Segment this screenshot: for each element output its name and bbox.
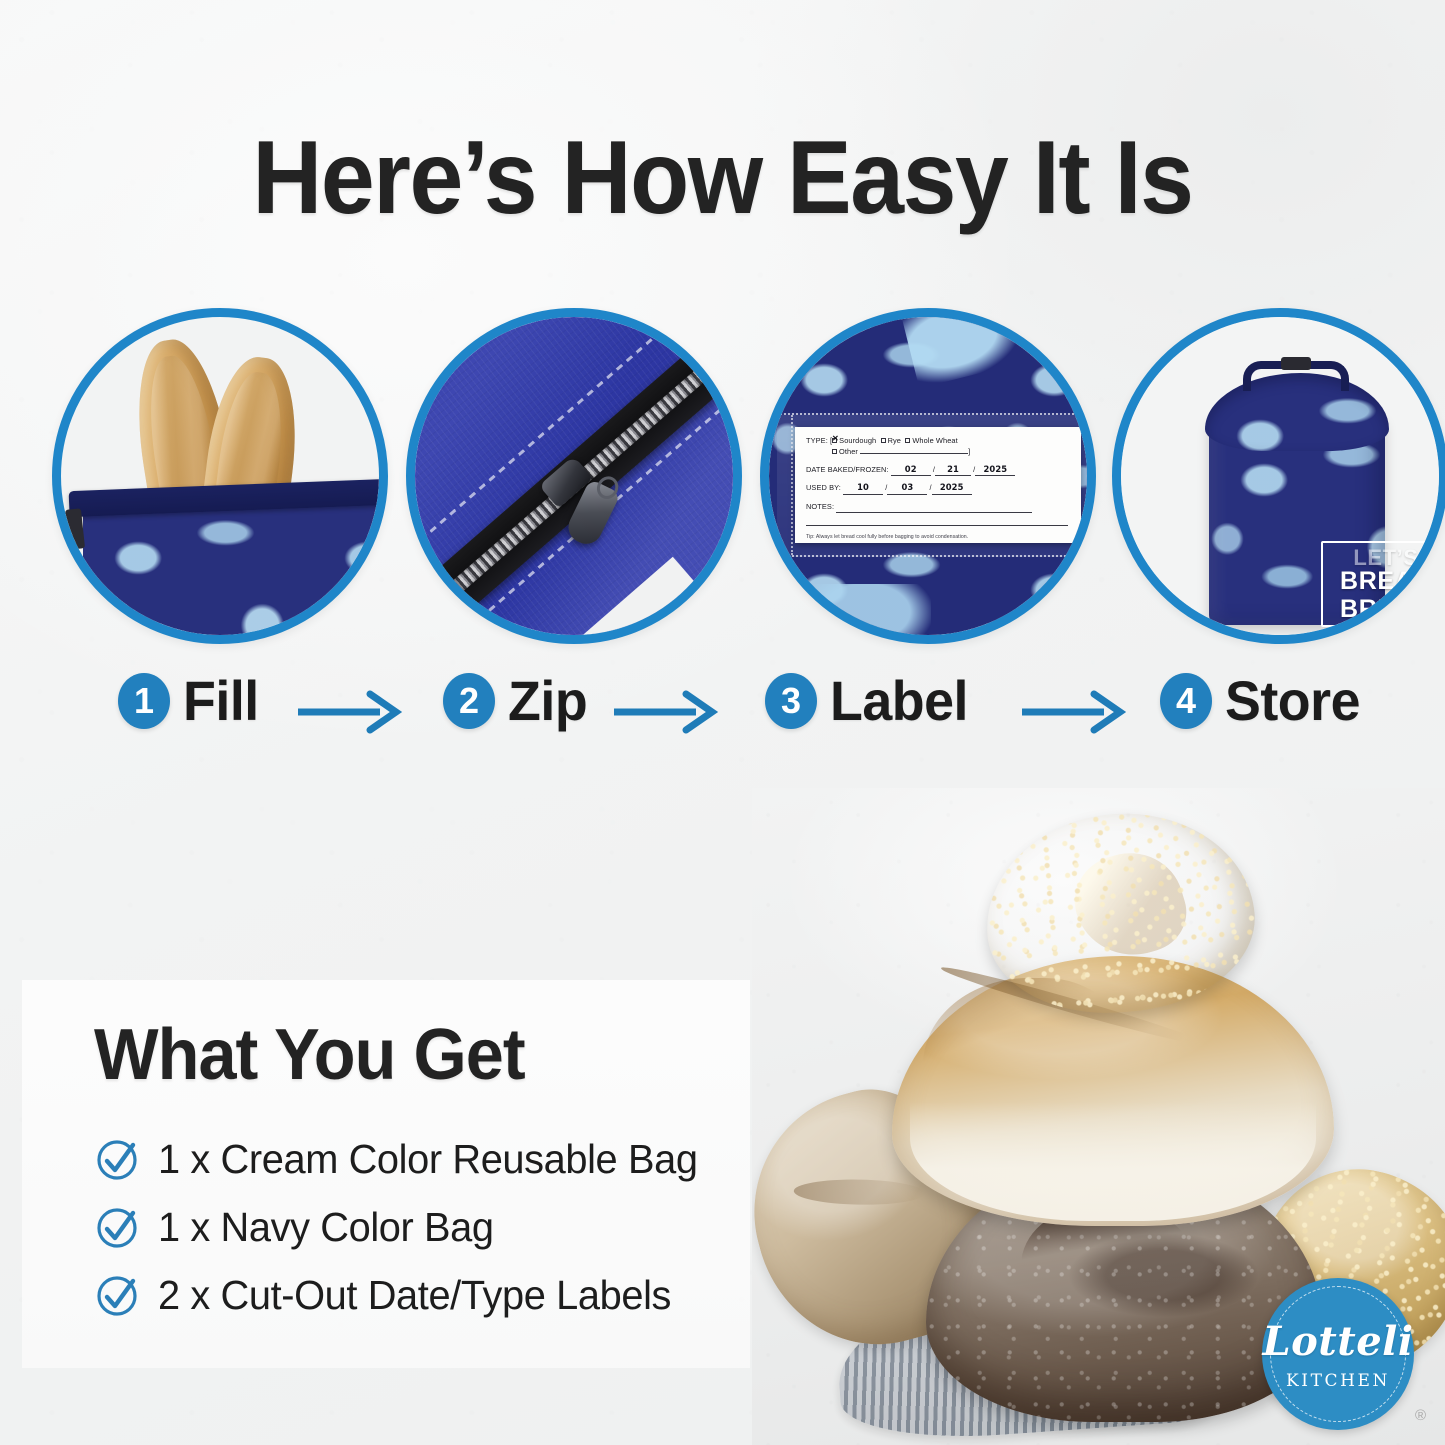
list-item-label: 1 x Navy Color Bag bbox=[158, 1204, 494, 1251]
label-notes-row-2 bbox=[806, 519, 1070, 529]
bag-print-line-2: BREAK bbox=[1340, 568, 1432, 594]
date-baked-month-field[interactable]: 02 bbox=[891, 464, 931, 476]
step-photo-store: LET’S BREAK BREAD bbox=[1112, 308, 1445, 644]
step-photo-fill bbox=[52, 308, 388, 644]
step-caption-store: 4 Store bbox=[1160, 668, 1366, 733]
step-caption-label: 3 Label bbox=[765, 668, 974, 733]
bag-handle-buckle bbox=[1281, 357, 1311, 370]
label-option-other: Other bbox=[839, 447, 858, 456]
step-number-badge-1: 1 bbox=[118, 673, 170, 729]
step-caption-fill: 1 Fill bbox=[118, 668, 262, 733]
used-by-month-value: 10 bbox=[843, 482, 883, 493]
checkbox-other[interactable] bbox=[832, 449, 837, 454]
page-title: Here’s How Easy It Is bbox=[51, 126, 1395, 230]
arrow-right-icon bbox=[296, 690, 404, 734]
what-you-get-panel: What You Get 1 x Cream Color Reusable Ba… bbox=[22, 980, 750, 1368]
sourdough-floured-crust bbox=[910, 1102, 1317, 1221]
open-bread-bag bbox=[83, 495, 379, 635]
step-number-badge-4: 4 bbox=[1160, 673, 1212, 729]
arrow-right-icon bbox=[612, 690, 720, 734]
step-number-badge-3: 3 bbox=[765, 673, 817, 729]
checkbox-sourdough[interactable] bbox=[832, 438, 837, 443]
step-number-badge-2: 2 bbox=[443, 673, 495, 729]
used-by-year-field[interactable]: 2025 bbox=[932, 482, 972, 494]
step-photo-zip bbox=[406, 308, 742, 644]
used-by-day-field[interactable]: 03 bbox=[887, 482, 927, 494]
label-other-row: Other ] bbox=[806, 447, 1070, 457]
notes-field-line-2[interactable] bbox=[806, 525, 1068, 526]
registered-trademark-mark: ® bbox=[1415, 1407, 1426, 1424]
label-type-caption: TYPE: bbox=[806, 436, 828, 445]
logo-inner-ring bbox=[1270, 1286, 1406, 1422]
step-photo-label: TYPE: [Sourdough Rye Whole Wheat Other ]… bbox=[760, 308, 1096, 644]
checkbox-rye[interactable] bbox=[881, 438, 886, 443]
label-date-baked-row: DATE BAKED/FROZEN: 02 /21 /2025 bbox=[806, 464, 1070, 476]
label-tip-text: Tip: Always let bread cool fully before … bbox=[806, 534, 1070, 540]
list-item-label: 1 x Cream Color Reusable Bag bbox=[158, 1136, 698, 1183]
label-option-rye: Rye bbox=[888, 436, 901, 445]
list-item-label: 2 x Cut-Out Date/Type Labels bbox=[158, 1272, 671, 1319]
brand-logo: Lotteli Kitchen ® bbox=[1262, 1278, 1414, 1430]
date-baked-day-field[interactable]: 21 bbox=[935, 464, 971, 476]
notes-field-line-1[interactable] bbox=[836, 502, 1032, 513]
bread-label-card: TYPE: [Sourdough Rye Whole Wheat Other ]… bbox=[795, 427, 1081, 543]
product-photo-backdrop: LET’S BREAK BREAD bbox=[1121, 317, 1439, 635]
used-by-year-value: 2025 bbox=[932, 482, 972, 493]
list-item: 2 x Cut-Out Date/Type Labels bbox=[94, 1272, 750, 1319]
used-by-caption: USED BY: bbox=[806, 483, 841, 492]
list-item: 1 x Navy Color Bag bbox=[94, 1204, 750, 1251]
what-you-get-title: What You Get bbox=[94, 1014, 717, 1096]
bag-print-line-1: LET’S bbox=[1353, 546, 1418, 569]
step-label-label: Label bbox=[830, 668, 968, 733]
checkbox-whole-wheat[interactable] bbox=[905, 438, 910, 443]
bag-print-frame: LET’S BREAK BREAD bbox=[1321, 541, 1439, 627]
used-by-day-value: 03 bbox=[887, 482, 927, 493]
check-circle-icon bbox=[94, 1205, 140, 1251]
step-label-fill: Fill bbox=[183, 668, 259, 733]
steps-caption-row: 1 Fill 2 Zip 3 Label 4 Store bbox=[0, 668, 1445, 762]
date-baked-month-value: 02 bbox=[891, 464, 931, 475]
label-type-bracket-close: ] bbox=[968, 447, 970, 456]
check-circle-icon bbox=[94, 1273, 140, 1319]
step-label-zip: Zip bbox=[508, 668, 587, 733]
arrow-right-icon bbox=[1020, 690, 1128, 734]
date-baked-day-value: 21 bbox=[935, 464, 971, 475]
date-baked-caption: DATE BAKED/FROZEN: bbox=[806, 465, 889, 474]
date-baked-year-value: 2025 bbox=[975, 464, 1015, 475]
label-option-whole-wheat: Whole Wheat bbox=[912, 436, 957, 445]
other-write-in-line[interactable] bbox=[860, 453, 968, 454]
notes-caption: NOTES: bbox=[806, 502, 834, 511]
check-circle-icon bbox=[94, 1137, 140, 1183]
label-used-by-row: USED BY: 10 /03 /2025 bbox=[806, 482, 1070, 494]
used-by-month-field[interactable]: 10 bbox=[843, 482, 883, 494]
step-label-store: Store bbox=[1225, 668, 1360, 733]
date-baked-year-field[interactable]: 2025 bbox=[975, 464, 1015, 476]
label-type-row: TYPE: [Sourdough Rye Whole Wheat bbox=[806, 436, 1070, 446]
step-caption-zip: 2 Zip bbox=[443, 668, 590, 733]
list-item: 1 x Cream Color Reusable Bag bbox=[94, 1136, 750, 1183]
label-option-sourdough: Sourdough bbox=[839, 436, 876, 445]
steps-photo-strip: TYPE: [Sourdough Rye Whole Wheat Other ]… bbox=[40, 308, 1405, 648]
label-notes-row: NOTES: bbox=[806, 502, 1070, 513]
bag-print-line-3: BREAD bbox=[1340, 596, 1432, 622]
